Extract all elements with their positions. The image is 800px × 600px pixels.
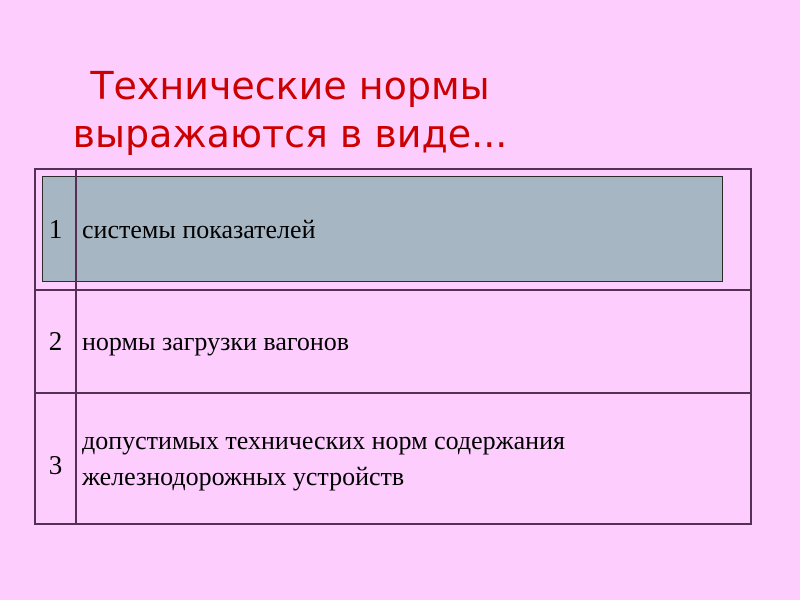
row-number-cell: 2 xyxy=(35,290,76,393)
norms-table: 1 системы показателей 2 нормы загрузки в… xyxy=(34,168,752,525)
row-number: 3 xyxy=(36,451,75,481)
row-text-cell: системы показателей xyxy=(76,169,751,290)
row-text: допустимых технических норм содержания ж… xyxy=(82,423,746,495)
row-number-cell: 1 xyxy=(35,169,76,290)
table-row[interactable]: 1 системы показателей xyxy=(35,169,751,290)
table-row[interactable]: 2 нормы загрузки вагонов xyxy=(35,290,751,393)
row-number-cell: 3 xyxy=(35,393,76,524)
table-row[interactable]: 3 допустимых технических норм содержания… xyxy=(35,393,751,524)
row-text-cell: допустимых технических норм содержания ж… xyxy=(76,393,751,524)
row-text-cell: нормы загрузки вагонов xyxy=(76,290,751,393)
row-text: нормы загрузки вагонов xyxy=(82,324,746,360)
row-text: системы показателей xyxy=(82,212,746,248)
row-number: 2 xyxy=(36,327,75,357)
page-title: Технические нормы выражаются в виде... xyxy=(40,62,540,158)
slide-canvas: Технические нормы выражаются в виде... 1… xyxy=(0,0,800,600)
row-number: 1 xyxy=(36,215,75,245)
